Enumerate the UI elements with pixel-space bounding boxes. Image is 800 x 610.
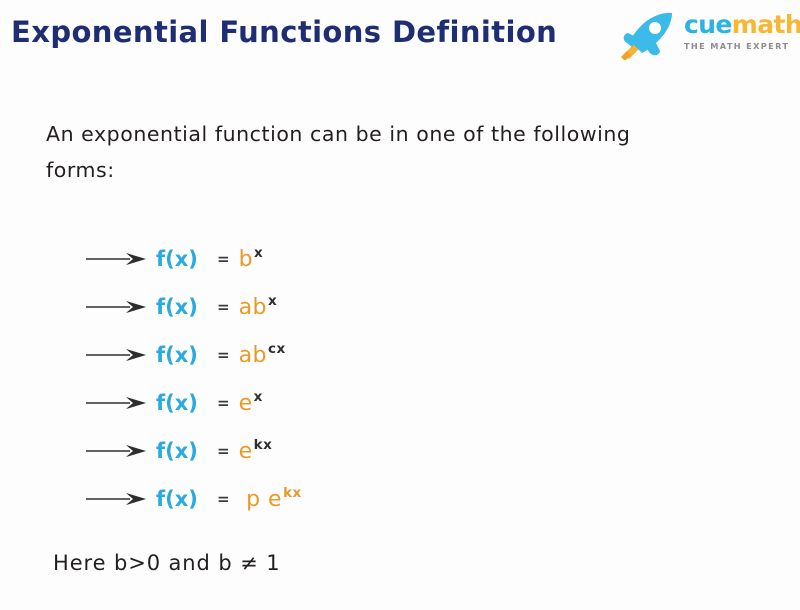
formula-exponent: x (254, 245, 263, 261)
page-title: Exponential Functions Definition (11, 15, 557, 49)
equals-sign: = (217, 346, 230, 364)
equals-sign: = (217, 490, 230, 508)
formula-expression: abx (239, 295, 278, 320)
logo-wordmark: cuemath THE MATH EXPERT (684, 12, 796, 51)
formula-base: e (239, 439, 253, 464)
formula-expression: bx (239, 247, 264, 272)
right-arrow-icon (86, 348, 148, 362)
formula-exponent: kx (254, 437, 273, 453)
cuemath-logo: cuemath THE MATH EXPERT (618, 8, 796, 60)
function-label: f(x) (156, 247, 212, 271)
logo-tagline: THE MATH EXPERT (684, 41, 796, 51)
formula-list: f(x) = bx f(x) = abx f(x) = abcx (86, 235, 486, 523)
function-label: f(x) (156, 391, 212, 415)
right-arrow-icon (86, 444, 148, 458)
logo-word-row: cuemath (684, 12, 796, 38)
equals-sign: = (217, 442, 230, 460)
function-label: f(x) (156, 487, 212, 511)
formula-exponent: x (254, 389, 263, 405)
formula-expression: ex (239, 391, 263, 416)
logo-word-cue: cue (684, 10, 732, 39)
formula-row: f(x) = p ekx (86, 475, 486, 523)
formula-base: ab (239, 295, 267, 320)
formula-base: b (239, 247, 253, 272)
formula-exponent: kx (283, 485, 302, 501)
function-label: f(x) (156, 439, 212, 463)
formula-row: f(x) = ekx (86, 427, 486, 475)
formula-expression: ekx (239, 439, 273, 464)
formula-base: p e (239, 487, 283, 512)
right-arrow-icon (86, 300, 148, 314)
formula-row: f(x) = bx (86, 235, 486, 283)
formula-exponent: x (268, 293, 277, 309)
function-label: f(x) (156, 295, 212, 319)
right-arrow-icon (86, 492, 148, 506)
page-header: Exponential Functions Definition cuemath (0, 0, 800, 72)
formula-expression: p ekx (239, 487, 302, 512)
formula-exponent: cx (268, 341, 286, 357)
right-arrow-icon (86, 396, 148, 410)
right-arrow-icon (86, 252, 148, 266)
condition-note: Here b>0 and b ≠ 1 (53, 551, 280, 575)
formula-row: f(x) = abcx (86, 331, 486, 379)
logo-word-math: math (732, 10, 800, 39)
formula-base: e (239, 391, 253, 416)
equals-sign: = (217, 298, 230, 316)
function-label: f(x) (156, 343, 212, 367)
equals-sign: = (217, 394, 230, 412)
intro-paragraph: An exponential function can be in one of… (46, 116, 706, 188)
formula-expression: abcx (239, 343, 286, 368)
formula-row: f(x) = ex (86, 379, 486, 427)
rocket-icon (618, 10, 680, 60)
formula-base: ab (239, 343, 267, 368)
formula-row: f(x) = abx (86, 283, 486, 331)
equals-sign: = (217, 250, 230, 268)
